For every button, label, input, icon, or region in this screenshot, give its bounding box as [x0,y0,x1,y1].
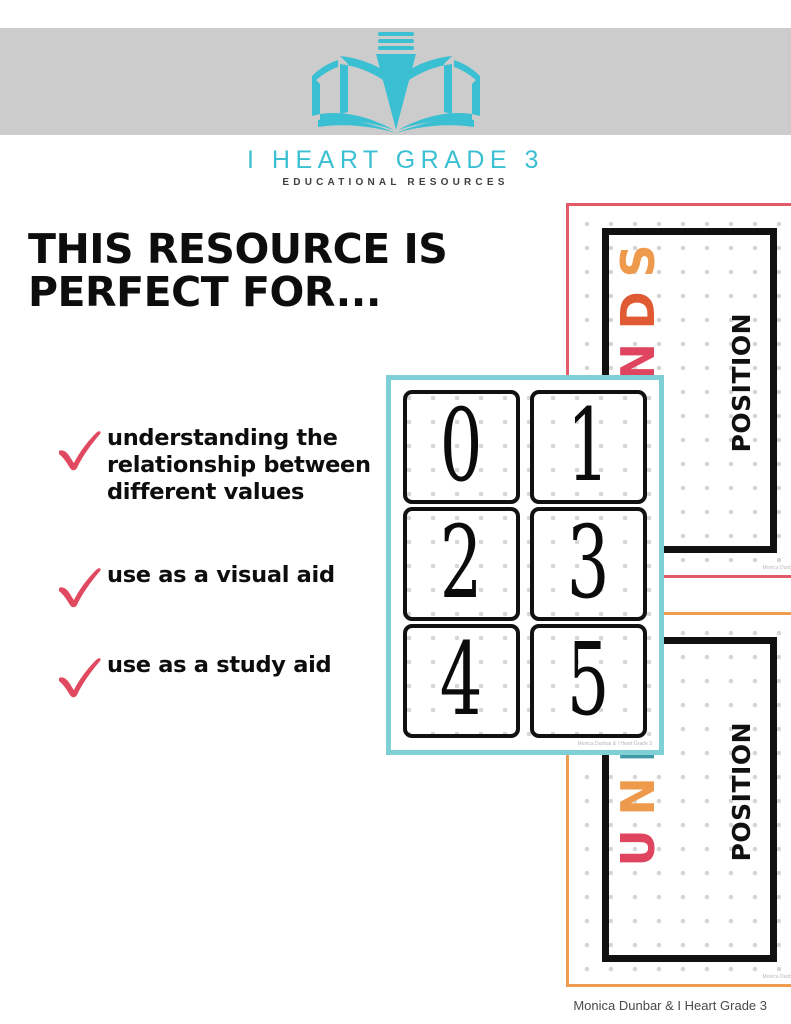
number-card: 4 [403,624,520,738]
watermark: Monica Dunbar & I Heart Grade 3 [763,974,791,980]
units-letter: U [617,830,659,866]
resource-preview-stack: A N D S POSITION Monica Dunbar & I Heart… [0,0,791,1024]
number-glyph: 5 [567,631,610,731]
thousands-position-label: POSITION [727,313,756,452]
number-glyph: 1 [567,397,610,497]
number-glyph: 4 [440,631,483,731]
number-card: 2 [403,507,520,621]
thousands-letter: S [617,245,659,277]
footer-credit: Monica Dunbar & I Heart Grade 3 [573,998,767,1013]
thousands-letter: D [617,292,659,329]
number-card: 3 [530,507,647,621]
units-letter: N [617,778,659,816]
number-glyph: 2 [440,514,483,614]
preview-number-sheet: 0 1 2 3 4 5 Monica Dunbar & I Heart Gr [386,375,664,755]
number-card: 1 [530,390,647,504]
number-glyph: 0 [440,397,483,497]
watermark: Monica Dunbar & I Heart Grade 3 [578,741,652,747]
number-card: 0 [403,390,520,504]
units-position-label: POSITION [727,722,756,861]
watermark: Monica Dunbar & I Heart Grade 3 [763,565,791,571]
number-card-grid: 0 1 2 3 4 5 [403,390,647,738]
slide-page: I HEART GRADE 3 EDUCATIONAL RESOURCES TH… [0,0,791,1024]
number-glyph: 3 [567,514,610,614]
open-book-pen-logo-icon [296,30,496,135]
number-card: 5 [530,624,647,738]
